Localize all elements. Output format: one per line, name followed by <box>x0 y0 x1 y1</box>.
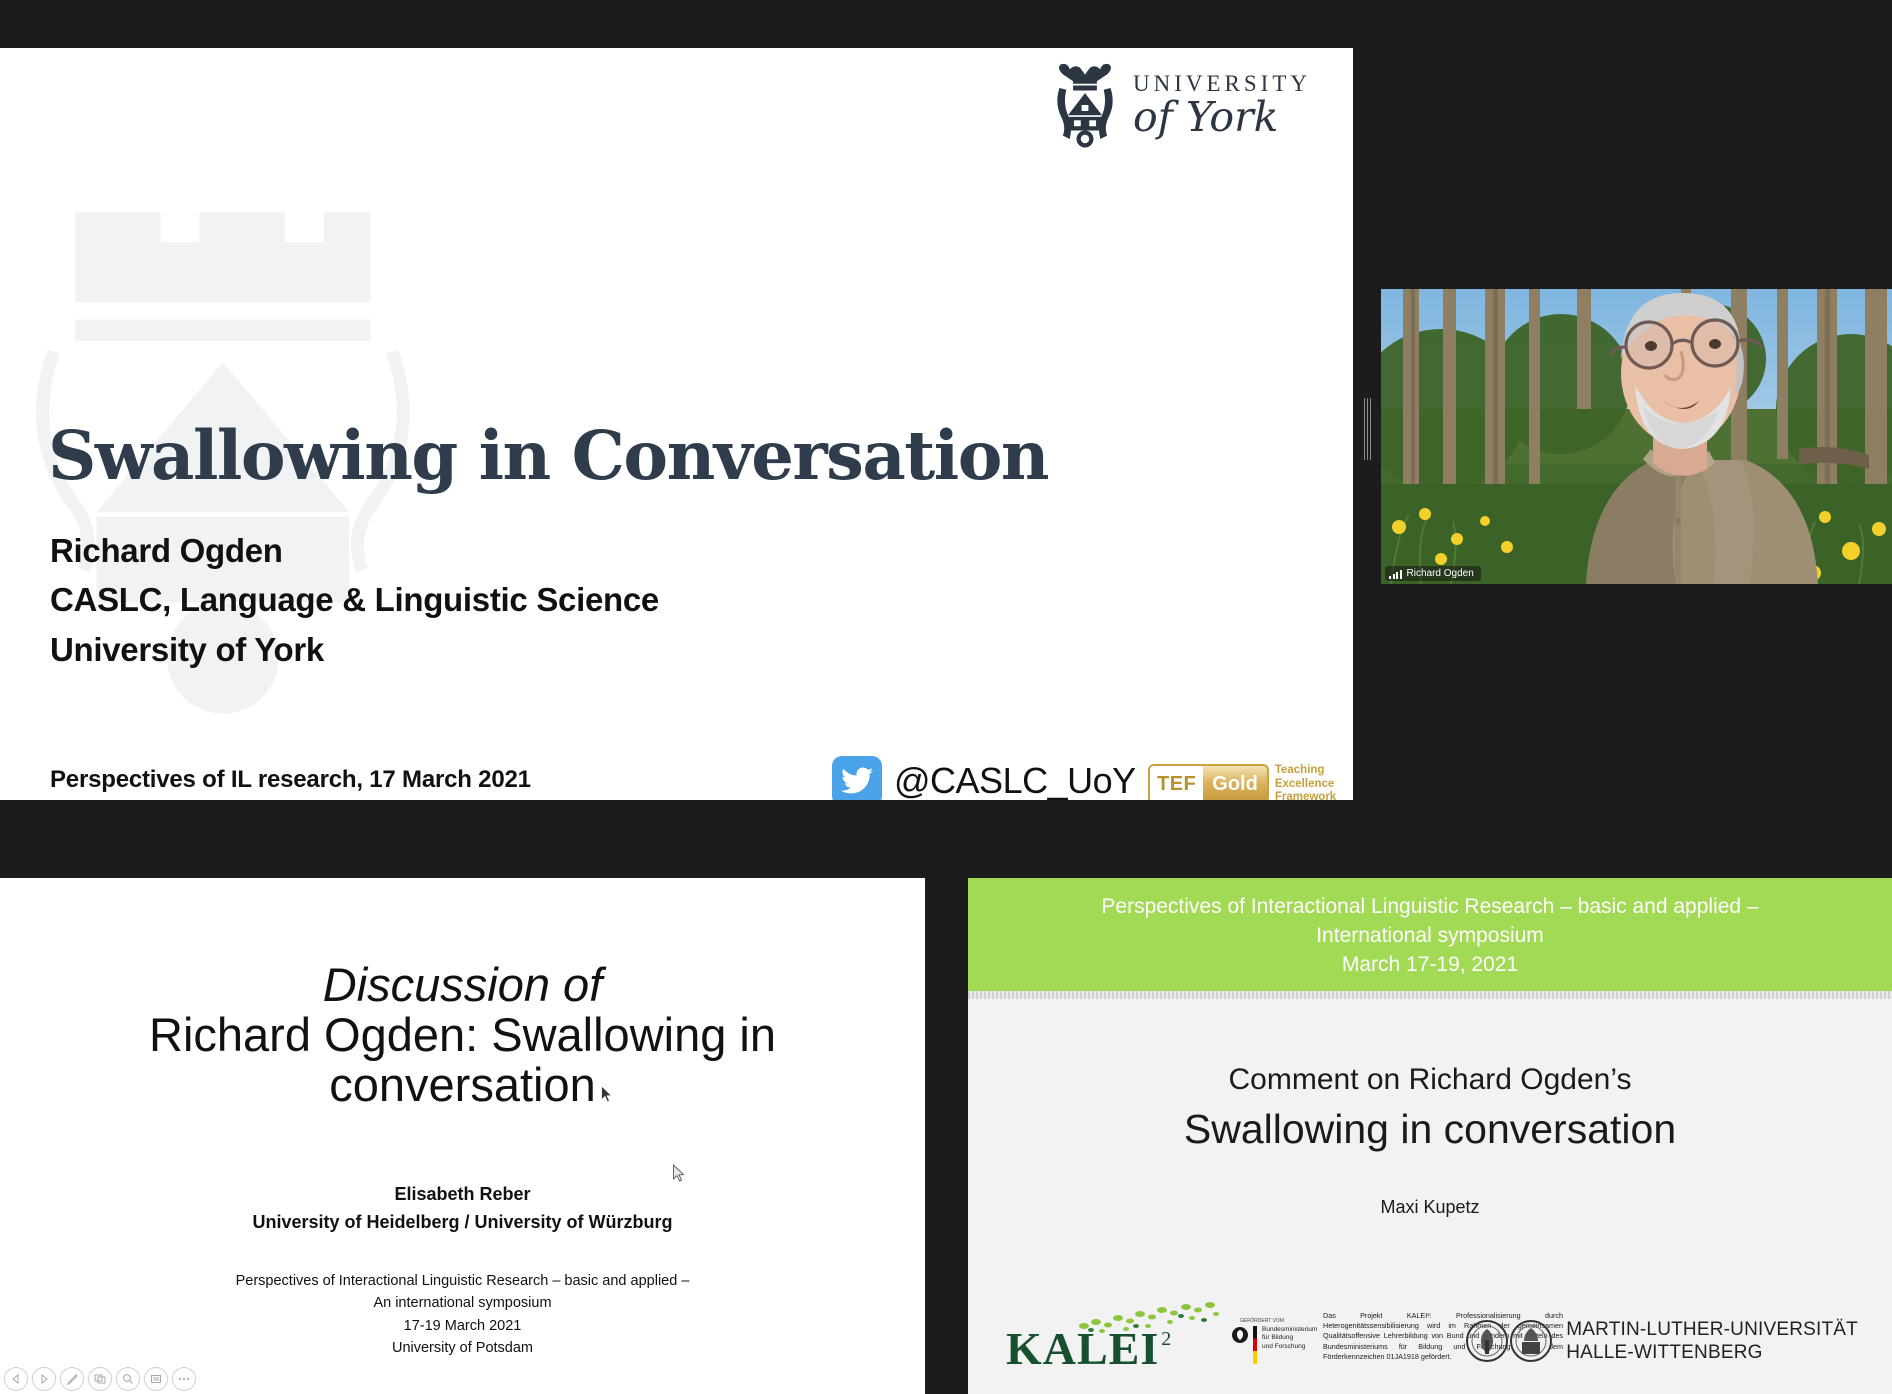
slide-right-banner: Perspectives of Interactional Linguistic… <box>968 878 1892 991</box>
mlu-line2: HALLE-WITTENBERG <box>1566 1341 1858 1364</box>
notes-lines-icon <box>150 1373 162 1385</box>
slide-title: Swallowing in Conversation <box>48 416 1048 495</box>
slide-left-meta-line3: 17-19 March 2021 <box>0 1315 925 1337</box>
tef-pill: TEF Gold <box>1148 764 1269 800</box>
next-slide-button[interactable] <box>32 1367 56 1391</box>
slide-overview-button[interactable] <box>88 1367 112 1391</box>
kalei-logo: KALEI 2 <box>1006 1326 1171 1372</box>
slide-right-main-title: Swallowing in conversation <box>968 1106 1892 1153</box>
participant-nameplate: Richard Ogden <box>1385 566 1481 581</box>
slide-left-meta-line1: Perspectives of Interactional Linguistic… <box>0 1270 925 1292</box>
tef-word-excellence: Excellence <box>1275 778 1336 792</box>
mouse-cursor-secondary <box>600 1085 613 1103</box>
slide-right-banner-line3: March 17-19, 2021 <box>968 951 1892 980</box>
slide-left-title-line2: Richard Ogden: Swallowing in <box>149 1008 776 1061</box>
magnifier-icon <box>122 1373 134 1385</box>
mlu-line1: MARTIN-LUTHER-UNIVERSITÄT <box>1566 1318 1858 1341</box>
more-options-button[interactable] <box>172 1367 196 1391</box>
mlu-wordmark: MARTIN-LUTHER-UNIVERSITÄT HALLE-WITTENBE… <box>1566 1318 1858 1364</box>
tef-grade: Gold <box>1203 766 1267 800</box>
slide-right-banner-line2: International symposium <box>968 922 1892 951</box>
previous-slide-button[interactable] <box>4 1367 28 1391</box>
slide-left-affiliation: University of Heidelberg / University of… <box>0 1212 925 1233</box>
tef-framework-text: Teaching Excellence Framework <box>1275 764 1336 800</box>
bmbf-logo: Bundesministerium für Bildung und Forsch… <box>1232 1326 1317 1364</box>
tef-word-teaching: Teaching <box>1275 764 1336 778</box>
bmbf-line1: Bundesministerium <box>1262 1326 1317 1334</box>
slide-university: University of York <box>50 631 324 669</box>
slide-right-banner-divider <box>968 991 1892 999</box>
video-frame-image <box>1381 289 1892 584</box>
york-crest-icon <box>1051 62 1119 148</box>
slide-left-title: Discussion of Richard Ogden: Swallowing … <box>0 960 925 1109</box>
mlu-seal-icons <box>1466 1320 1552 1362</box>
mlu-logo: MARTIN-LUTHER-UNIVERSITÄT HALLE-WITTENBE… <box>1466 1318 1858 1364</box>
slide-left-event-meta: Perspectives of Interactional Linguistic… <box>0 1270 925 1360</box>
participant-video-tile[interactable]: Richard Ogden <box>1381 289 1892 584</box>
slide-thumbnail-kupetz[interactable]: Perspectives of Interactional Linguistic… <box>968 878 1892 1394</box>
slides-grid-icon <box>94 1373 106 1385</box>
slide-left-author: Elisabeth Reber <box>0 1184 925 1205</box>
university-of-york-logo: UNIVERSITY of York <box>1051 62 1311 148</box>
german-flag-bar-icon <box>1253 1326 1257 1364</box>
twitter-handle-block: @CASLC_UoY <box>832 756 1136 800</box>
presentation-toolbar[interactable] <box>4 1367 196 1391</box>
logo-university-text: UNIVERSITY <box>1133 72 1311 95</box>
twitter-icon <box>832 756 882 800</box>
tef-word-framework: Framework <box>1275 791 1336 800</box>
bmbf-line2: für Bildung <box>1262 1334 1317 1342</box>
slide-right-author: Maxi Kupetz <box>968 1197 1892 1218</box>
ellipsis-icon <box>177 1376 191 1382</box>
kalei-dots-icon <box>1076 1300 1226 1334</box>
tef-label: TEF <box>1150 766 1203 800</box>
mouse-cursor-primary <box>672 1164 685 1182</box>
slide-footer-event: Perspectives of IL research, 17 March 20… <box>50 766 531 794</box>
tef-gold-badge: TEF Gold Teaching Excellence Framework <box>1148 764 1336 800</box>
pen-icon <box>66 1373 79 1386</box>
slide-thumbnail-reber[interactable]: Discussion of Richard Ogden: Swallowing … <box>0 878 925 1394</box>
slide-right-banner-line1: Perspectives of Interactional Linguistic… <box>968 893 1892 922</box>
slide-left-title-line3: conversation <box>329 1058 596 1111</box>
mlu-seal-right-icon <box>1510 1320 1552 1362</box>
bmbf-superline: GEFÖRDERT VOM <box>1240 1318 1284 1324</box>
signal-strength-icon <box>1389 569 1402 579</box>
logo-ofyork-text: of York <box>1133 97 1311 138</box>
notes-button[interactable] <box>144 1367 168 1391</box>
slide-left-meta-line4: University of Potsdam <box>0 1337 925 1359</box>
slide-left-title-line1: Discussion of <box>323 958 603 1011</box>
prev-triangle-icon <box>11 1374 21 1384</box>
bmbf-text: Bundesministerium für Bildung und Forsch… <box>1262 1326 1317 1351</box>
mlu-seal-left-icon <box>1466 1320 1508 1362</box>
slide-department: CASLC, Language & Linguistic Science <box>50 581 659 619</box>
slide-left-meta-line2: An international symposium <box>0 1292 925 1314</box>
slide-right-comment-line: Comment on Richard Ogden’s <box>968 1063 1892 1097</box>
shared-screen-slide[interactable]: UNIVERSITY of York Swallowing in Convers… <box>0 48 1353 800</box>
twitter-handle-text: @CASLC_UoY <box>894 760 1136 800</box>
slide-author: Richard Ogden <box>50 532 283 570</box>
next-triangle-icon <box>39 1374 49 1384</box>
slide-right-logo-bar: KALEI 2 GEFÖRDERT VOM Bundesministerium … <box>968 1298 1892 1386</box>
participant-name-label: Richard Ogden <box>1407 568 1474 579</box>
video-panel-drag-handle[interactable] <box>1364 398 1371 460</box>
bmbf-line3: und Forschung <box>1262 1343 1317 1351</box>
zoom-button[interactable] <box>116 1367 140 1391</box>
annotate-pen-button[interactable] <box>60 1367 84 1391</box>
federal-eagle-icon <box>1232 1326 1248 1344</box>
